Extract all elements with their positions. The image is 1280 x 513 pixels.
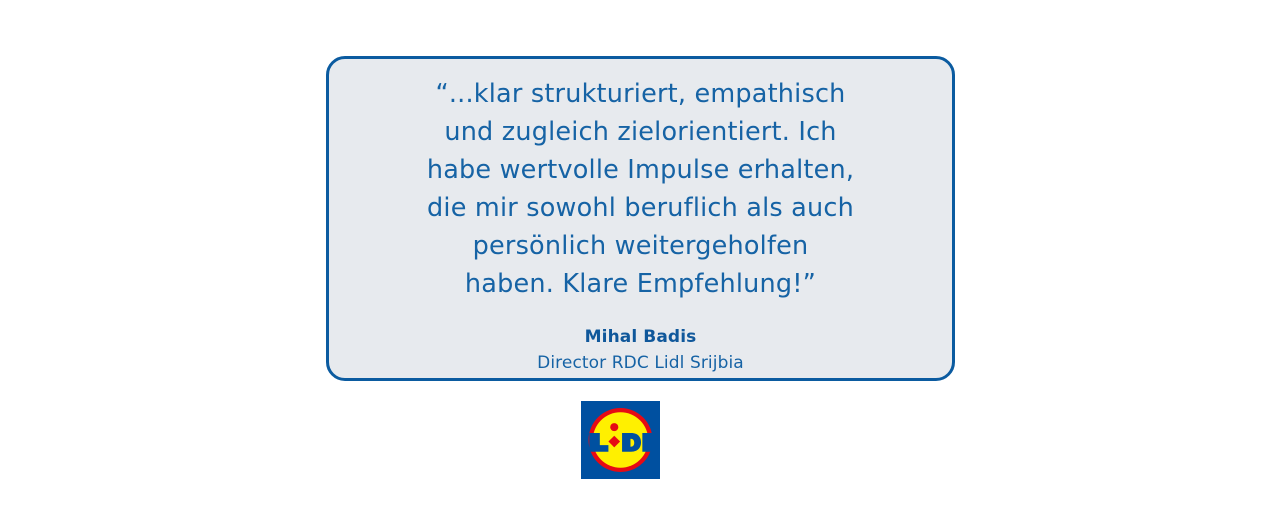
author-name: Mihal Badis [329, 325, 952, 349]
lidl-logo-graphic [581, 401, 660, 479]
lidl-logo [581, 401, 660, 479]
page-root: “...klar strukturiert, empathisch und zu… [0, 0, 1280, 513]
testimonial-attribution: Mihal Badis Director RDC Lidl Srijbia [329, 325, 952, 377]
testimonial-card: “...klar strukturiert, empathisch und zu… [326, 56, 955, 381]
author-role: Director RDC Lidl Srijbia [329, 349, 952, 377]
testimonial-quote: “...klar strukturiert, empathisch und zu… [349, 75, 933, 303]
